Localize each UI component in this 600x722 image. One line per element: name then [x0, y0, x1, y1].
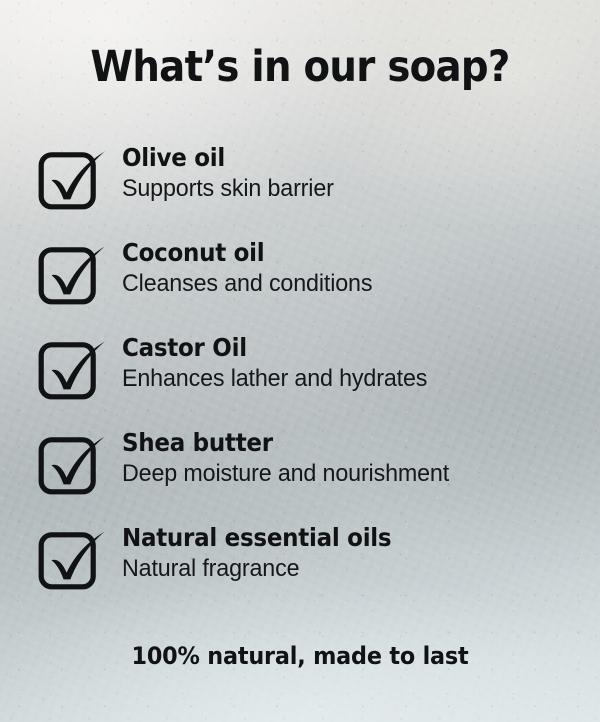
list-item-subtitle: Natural fragrance [122, 554, 564, 583]
list-item-text: Shea butter Deep moisture and nourishmen… [122, 428, 578, 488]
list-item-title: Natural essential oils [122, 523, 542, 553]
list-item-title: Castor Oil [122, 333, 542, 363]
checkbox-checked-icon [38, 143, 110, 215]
list-item: Coconut oil Cleanses and conditions [38, 238, 578, 333]
footer-tagline: 100% natural, made to last [21, 641, 579, 671]
checkbox-checked-icon [38, 428, 110, 500]
list-item: Shea butter Deep moisture and nourishmen… [38, 428, 578, 523]
list-item-title: Olive oil [122, 143, 542, 173]
poster-content: What’s in our soap? Olive oil Supports s… [0, 0, 600, 722]
list-item-subtitle: Cleanses and conditions [122, 269, 564, 298]
page-title: What’s in our soap? [30, 44, 570, 91]
list-item-text: Natural essential oils Natural fragrance [122, 523, 578, 583]
list-item-text: Olive oil Supports skin barrier [122, 143, 578, 203]
list-item-subtitle: Enhances lather and hydrates [122, 364, 564, 393]
list-item-title: Shea butter [122, 428, 542, 458]
ingredients-checklist: Olive oil Supports skin barrier Coconut … [38, 143, 578, 618]
checkbox-checked-icon [38, 523, 110, 595]
list-item: Olive oil Supports skin barrier [38, 143, 578, 238]
list-item: Castor Oil Enhances lather and hydrates [38, 333, 578, 428]
list-item-text: Castor Oil Enhances lather and hydrates [122, 333, 578, 393]
soap-ingredients-poster: What’s in our soap? Olive oil Supports s… [0, 0, 600, 722]
list-item-text: Coconut oil Cleanses and conditions [122, 238, 578, 298]
checkbox-checked-icon [38, 333, 110, 405]
list-item-title: Coconut oil [122, 238, 542, 268]
list-item-subtitle: Supports skin barrier [122, 174, 564, 203]
checkbox-checked-icon [38, 238, 110, 310]
list-item-subtitle: Deep moisture and nourishment [122, 459, 564, 488]
list-item: Natural essential oils Natural fragrance [38, 523, 578, 618]
